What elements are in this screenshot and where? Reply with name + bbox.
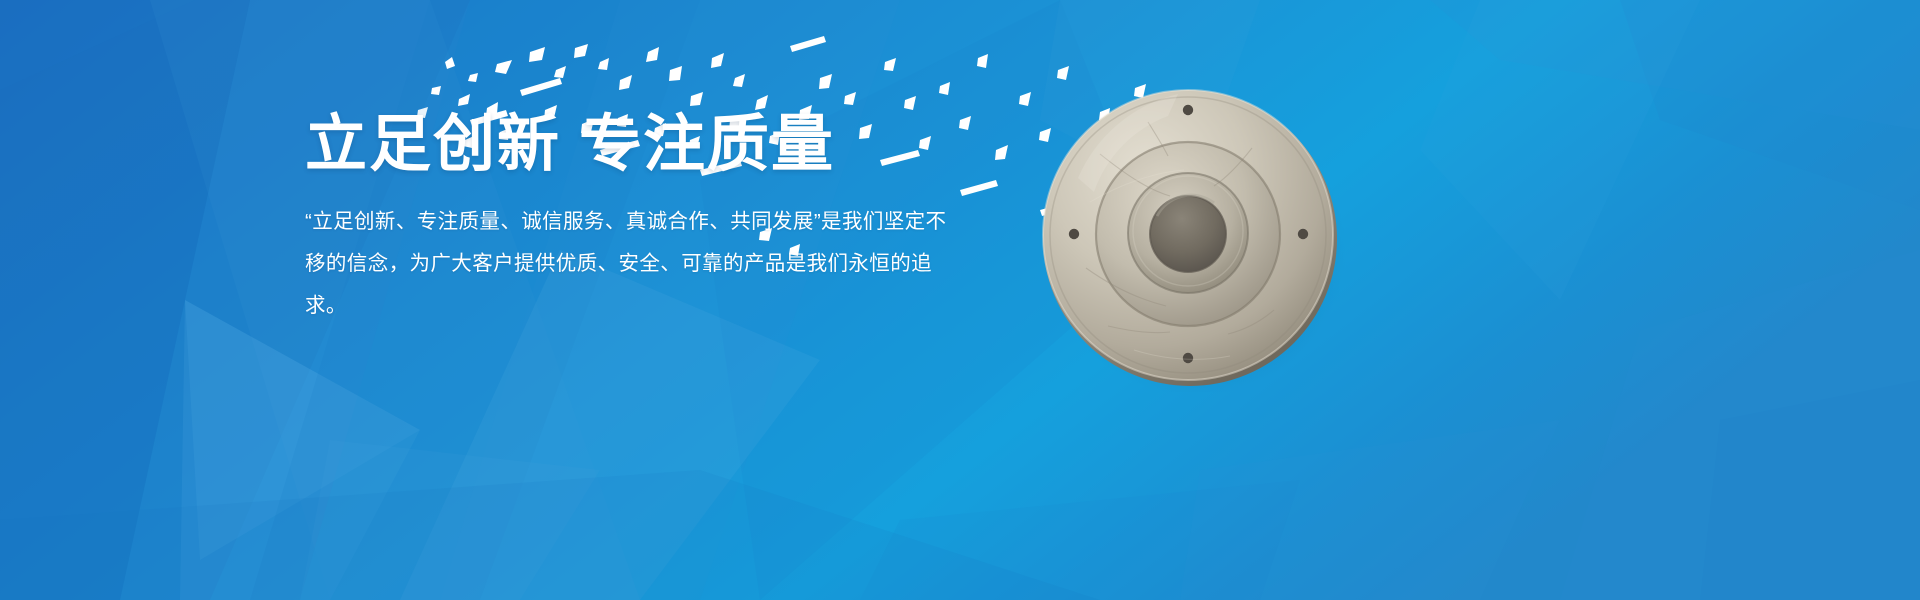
product-photo-metal-flange — [1038, 82, 1348, 392]
banner-body-text: “立足创新、专注质量、诚信服务、真诚合作、共同发展”是我们坚定不移的信念，为广大… — [305, 201, 965, 327]
banner-copy: 立足创新专注质量 “立足创新、专注质量、诚信服务、真诚合作、共同发展”是我们坚定… — [305, 112, 985, 327]
banner-headline: 立足创新专注质量 — [305, 112, 985, 179]
headline-part-2: 专注质量 — [579, 110, 835, 179]
metal-flange-illustration — [1038, 82, 1348, 392]
headline-part-1: 立足创新 — [305, 110, 561, 179]
hero-banner: 立足创新专注质量 “立足创新、专注质量、诚信服务、真诚合作、共同发展”是我们坚定… — [0, 0, 1920, 600]
